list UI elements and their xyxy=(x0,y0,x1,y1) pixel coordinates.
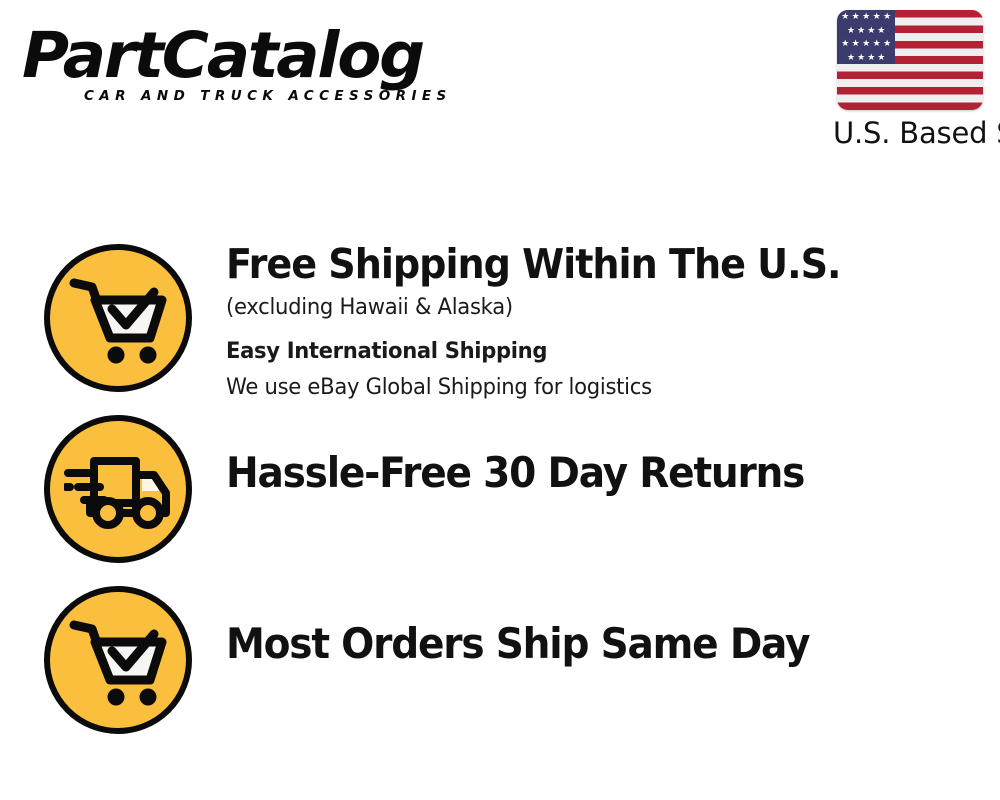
feature-note: (excluding Hawaii & Alaska) xyxy=(226,292,969,324)
shopping-cart-check-icon xyxy=(44,586,192,734)
flag-star: ★ xyxy=(841,12,849,21)
flag-star: ★ xyxy=(862,39,870,48)
shopping-cart-check-icon xyxy=(44,244,192,392)
flag-star-row: ★ ★ ★ ★ xyxy=(837,50,895,63)
feature-heading: Hassle-Free 30 Day Returns xyxy=(226,449,946,497)
flag-star: ★ xyxy=(873,12,881,21)
brand-logo: PartCatalog CAR AND TRUCK ACCESSORIES xyxy=(22,22,492,117)
flag-canton: ★ ★ ★ ★ ★ ★ ★ ★ ★ ★ ★ ★ xyxy=(837,10,895,64)
flag-star: ★ xyxy=(857,26,865,35)
feature-text-block: Most Orders Ship Same Day xyxy=(192,582,1000,668)
flag-star: ★ xyxy=(852,12,860,21)
delivery-truck-icon xyxy=(44,415,192,563)
banner-header: PartCatalog CAR AND TRUCK ACCESSORIES ★ … xyxy=(0,0,1000,175)
flag-star: ★ xyxy=(857,53,865,62)
flag-star: ★ xyxy=(841,39,849,48)
us-based-seller-label: U.S. Based Seller xyxy=(833,116,985,150)
feature-row: Free Shipping Within The U.S. (excluding… xyxy=(0,240,1000,411)
flag-star: ★ xyxy=(852,39,860,48)
flag-star: ★ xyxy=(873,39,881,48)
feature-text-block: Hassle-Free 30 Day Returns xyxy=(192,411,1000,497)
feature-row: Hassle-Free 30 Day Returns xyxy=(0,411,1000,582)
flag-star: ★ xyxy=(847,53,855,62)
flag-star: ★ xyxy=(883,39,891,48)
flag-star: ★ xyxy=(862,12,870,21)
flag-star: ★ xyxy=(847,26,855,35)
flag-star: ★ xyxy=(877,53,885,62)
us-based-seller-badge: ★ ★ ★ ★ ★ ★ ★ ★ ★ ★ ★ ★ xyxy=(837,10,985,150)
flag-star-row: ★ ★ ★ ★ xyxy=(837,23,895,36)
flag-star: ★ xyxy=(867,26,875,35)
promo-banner: PartCatalog CAR AND TRUCK ACCESSORIES ★ … xyxy=(0,0,1000,800)
feature-row: Most Orders Ship Same Day xyxy=(0,582,1000,753)
flag-star-row: ★ ★ ★ ★ ★ xyxy=(837,37,895,50)
brand-wordmark: PartCatalog xyxy=(22,22,501,90)
flag-star-row: ★ ★ ★ ★ ★ xyxy=(837,10,895,23)
flag-star: ★ xyxy=(883,12,891,21)
feature-subheading: Easy International Shipping xyxy=(226,336,969,368)
feature-list: Free Shipping Within The U.S. (excluding… xyxy=(0,240,1000,753)
feature-heading: Free Shipping Within The U.S. xyxy=(226,240,946,288)
feature-text-block: Free Shipping Within The U.S. (excluding… xyxy=(192,240,1000,404)
flag-star: ★ xyxy=(867,53,875,62)
feature-subnote: We use eBay Global Shipping for logistic… xyxy=(226,372,969,404)
feature-heading: Most Orders Ship Same Day xyxy=(226,620,946,668)
flag-star: ★ xyxy=(877,26,885,35)
us-flag-icon: ★ ★ ★ ★ ★ ★ ★ ★ ★ ★ ★ ★ xyxy=(837,10,983,110)
